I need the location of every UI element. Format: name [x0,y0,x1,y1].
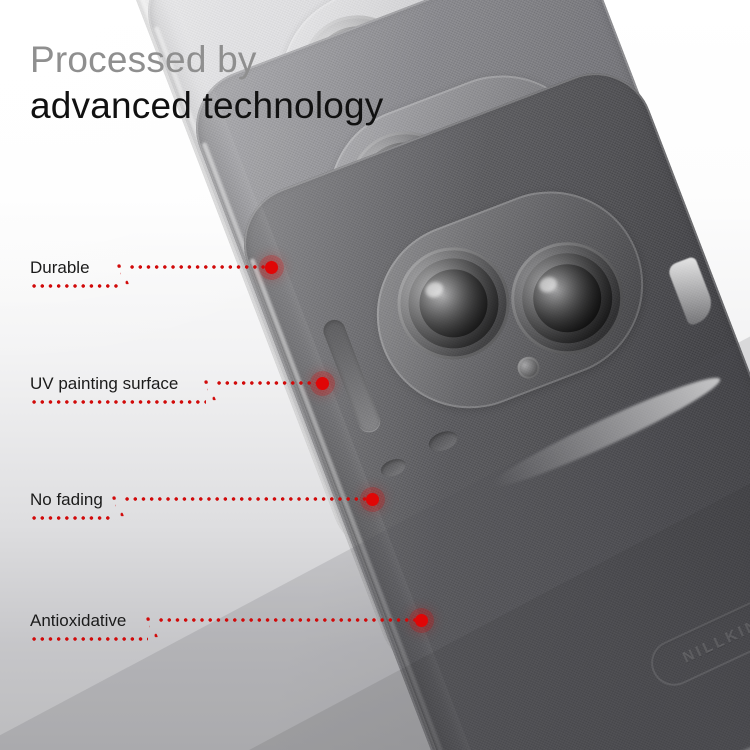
callout-underline [30,400,206,404]
callout-leader-line [215,381,325,385]
callout-leader-line [123,497,375,501]
headline-line-1: Processed by [30,38,384,82]
product-feature-image: NILLKIN [0,0,750,750]
callout-leader-line [157,618,425,622]
callout-marker-dot [415,614,428,627]
callout-label: No fading [30,490,103,510]
headline-line-2: advanced technology [30,84,384,128]
callout-marker-dot [366,493,379,506]
callout-underline [30,637,148,641]
headline-block: Processed by advanced technology [30,38,384,127]
callout-marker-dot [265,261,278,274]
callout-marker-dot [316,377,329,390]
callout-label: Durable [30,258,90,278]
callout-underline [30,516,114,520]
callout-label: UV painting surface [30,374,178,394]
callout-label: Antioxidative [30,611,126,631]
callout-underline [30,284,120,288]
callout-leader-line [128,265,274,269]
